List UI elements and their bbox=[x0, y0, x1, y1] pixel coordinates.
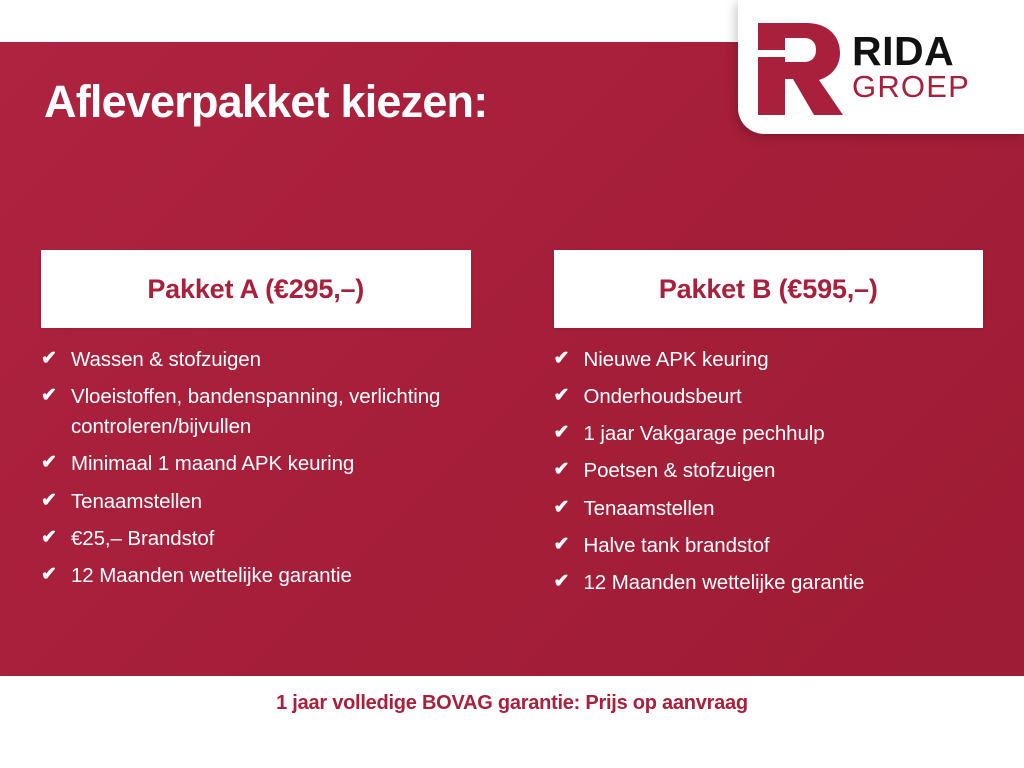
list-item: ✔ Wassen & stofzuigen bbox=[41, 345, 471, 375]
feature-label: 12 Maanden wettelijke garantie bbox=[584, 568, 984, 598]
list-item: ✔ Poetsen & stofzuigen bbox=[554, 456, 984, 486]
brand-name-secondary: GROEP bbox=[852, 73, 970, 102]
package-b-feature-list: ✔ Nieuwe APK keuring ✔ Onderhoudsbeurt ✔… bbox=[554, 345, 984, 598]
list-item: ✔ Tenaamstellen bbox=[554, 494, 984, 524]
feature-label: Minimaal 1 maand APK keuring bbox=[71, 449, 471, 479]
footer-banner: 1 jaar volledige BOVAG garantie: Prijs o… bbox=[0, 676, 1024, 768]
checkmark-icon: ✔ bbox=[554, 494, 584, 522]
list-item: ✔ Onderhoudsbeurt bbox=[554, 382, 984, 412]
package-b-header[interactable]: Pakket B (€595,–) bbox=[554, 250, 984, 328]
feature-label: Wassen & stofzuigen bbox=[71, 345, 471, 375]
feature-label: Onderhoudsbeurt bbox=[584, 382, 984, 412]
list-item: ✔ Nieuwe APK keuring bbox=[554, 345, 984, 375]
feature-label: €25,– Brandstof bbox=[71, 524, 471, 554]
feature-label: Nieuwe APK keuring bbox=[584, 345, 984, 375]
list-item: ✔ 12 Maanden wettelijke garantie bbox=[554, 568, 984, 598]
main-red-panel: Afleverpakket kiezen: Pakket A (€295,–) … bbox=[0, 42, 1024, 676]
list-item: ✔ Tenaamstellen bbox=[41, 487, 471, 517]
rida-r-monogram-icon bbox=[748, 17, 844, 117]
checkmark-icon: ✔ bbox=[554, 456, 584, 484]
checkmark-icon: ✔ bbox=[41, 345, 71, 373]
brand-logo-plate[interactable]: RIDA GROEP bbox=[738, 0, 1024, 134]
page-title: Afleverpakket kiezen: bbox=[44, 78, 487, 125]
footer-note: 1 jaar volledige BOVAG garantie: Prijs o… bbox=[276, 692, 748, 715]
list-item: ✔ €25,– Brandstof bbox=[41, 524, 471, 554]
feature-label: Halve tank brandstof bbox=[584, 531, 984, 561]
package-column-b: Pakket B (€595,–) ✔ Nieuwe APK keuring ✔… bbox=[554, 250, 984, 605]
feature-label: Tenaamstellen bbox=[71, 487, 471, 517]
checkmark-icon: ✔ bbox=[41, 487, 71, 515]
package-column-a: Pakket A (€295,–) ✔ Wassen & stofzuigen … bbox=[41, 250, 471, 605]
feature-label: Poetsen & stofzuigen bbox=[584, 456, 984, 486]
feature-label: 12 Maanden wettelijke garantie bbox=[71, 561, 471, 591]
checkmark-icon: ✔ bbox=[554, 345, 584, 373]
list-item: ✔ 1 jaar Vakgarage pechhulp bbox=[554, 419, 984, 449]
list-item: ✔ 12 Maanden wettelijke garantie bbox=[41, 561, 471, 591]
feature-label: 1 jaar Vakgarage pechhulp bbox=[584, 419, 984, 449]
list-item: ✔ Halve tank brandstof bbox=[554, 531, 984, 561]
list-item: ✔ Vloeistoffen, bandenspanning, verlicht… bbox=[41, 382, 471, 442]
package-a-title: Pakket A (€295,–) bbox=[147, 274, 364, 305]
checkmark-icon: ✔ bbox=[554, 568, 584, 596]
checkmark-icon: ✔ bbox=[41, 524, 71, 552]
slide-root: Afleverpakket kiezen: Pakket A (€295,–) … bbox=[0, 0, 1024, 768]
checkmark-icon: ✔ bbox=[41, 561, 71, 589]
checkmark-icon: ✔ bbox=[41, 449, 71, 477]
package-a-header[interactable]: Pakket A (€295,–) bbox=[41, 250, 471, 328]
checkmark-icon: ✔ bbox=[41, 382, 71, 410]
brand-name-primary: RIDA bbox=[852, 33, 970, 71]
checkmark-icon: ✔ bbox=[554, 531, 584, 559]
checkmark-icon: ✔ bbox=[554, 382, 584, 410]
package-a-feature-list: ✔ Wassen & stofzuigen ✔ Vloeistoffen, ba… bbox=[41, 345, 471, 591]
brand-wordmark: RIDA GROEP bbox=[852, 33, 970, 101]
checkmark-icon: ✔ bbox=[554, 419, 584, 447]
package-b-title: Pakket B (€595,–) bbox=[659, 274, 878, 305]
feature-label: Vloeistoffen, bandenspanning, verlichtin… bbox=[71, 382, 471, 442]
feature-label: Tenaamstellen bbox=[584, 494, 984, 524]
list-item: ✔ Minimaal 1 maand APK keuring bbox=[41, 449, 471, 479]
packages-container: Pakket A (€295,–) ✔ Wassen & stofzuigen … bbox=[41, 250, 983, 605]
